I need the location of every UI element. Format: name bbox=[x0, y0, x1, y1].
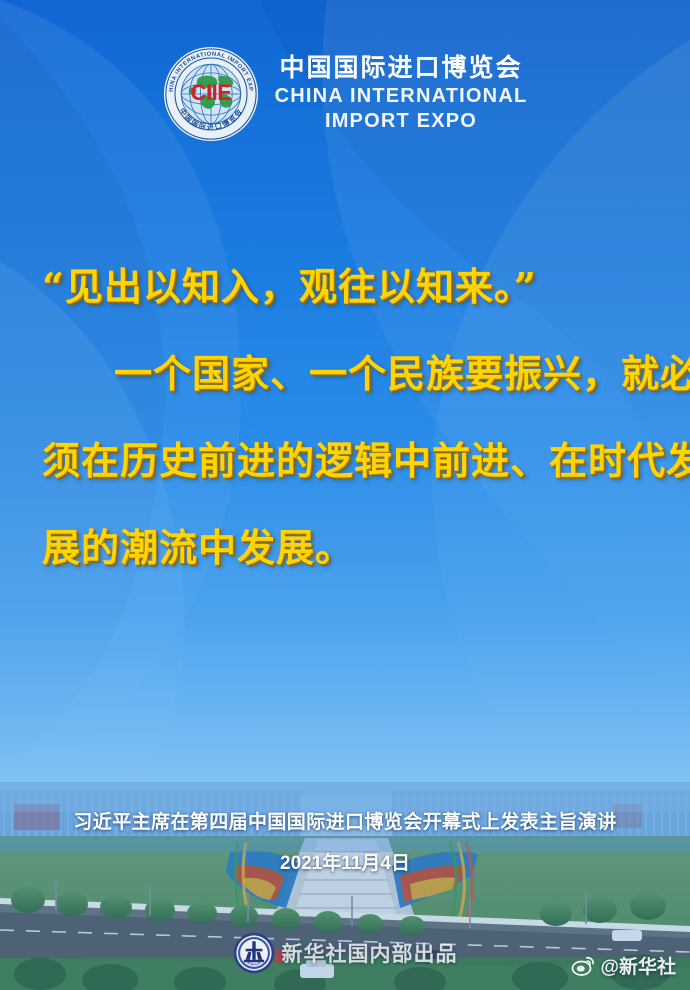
svg-text:CIIE: CIIE bbox=[190, 80, 231, 105]
ciie-globe-emblem-icon: CIIE CHINA INTERNATIONAL IMPORT EXPO 中国国… bbox=[163, 46, 259, 142]
header: CIIE CHINA INTERNATIONAL IMPORT EXPO 中国国… bbox=[0, 46, 690, 142]
quote-block: “见出以知入，观往以知来。” 一个国家、一个民族要振兴，就必 须在历史前进的逻辑… bbox=[0, 268, 690, 616]
weibo-watermark: @新华社 bbox=[571, 952, 676, 979]
header-text-block: 中国国际进口博览会 CHINA INTERNATIONAL IMPORT EXP… bbox=[275, 54, 528, 134]
header-title-en-line2: IMPORT EXPO bbox=[325, 109, 477, 134]
quote-line-1: “见出以知入，观往以知来。” bbox=[42, 268, 648, 306]
quote-line-4: 展的潮流中发展。 bbox=[42, 529, 648, 567]
quote-line-3: 须在历史前进的逻辑中前进、在时代发 bbox=[42, 442, 648, 480]
header-title-en-line1: CHINA INTERNATIONAL bbox=[275, 84, 528, 109]
poster-root: CIIE CHINA INTERNATIONAL IMPORT EXPO 中国国… bbox=[0, 0, 690, 990]
quote-line-2: 一个国家、一个民族要振兴，就必 bbox=[42, 355, 648, 393]
weibo-icon bbox=[571, 954, 595, 978]
weibo-handle: @新华社 bbox=[600, 952, 676, 979]
header-title-cn: 中国国际进口博览会 bbox=[279, 54, 522, 84]
